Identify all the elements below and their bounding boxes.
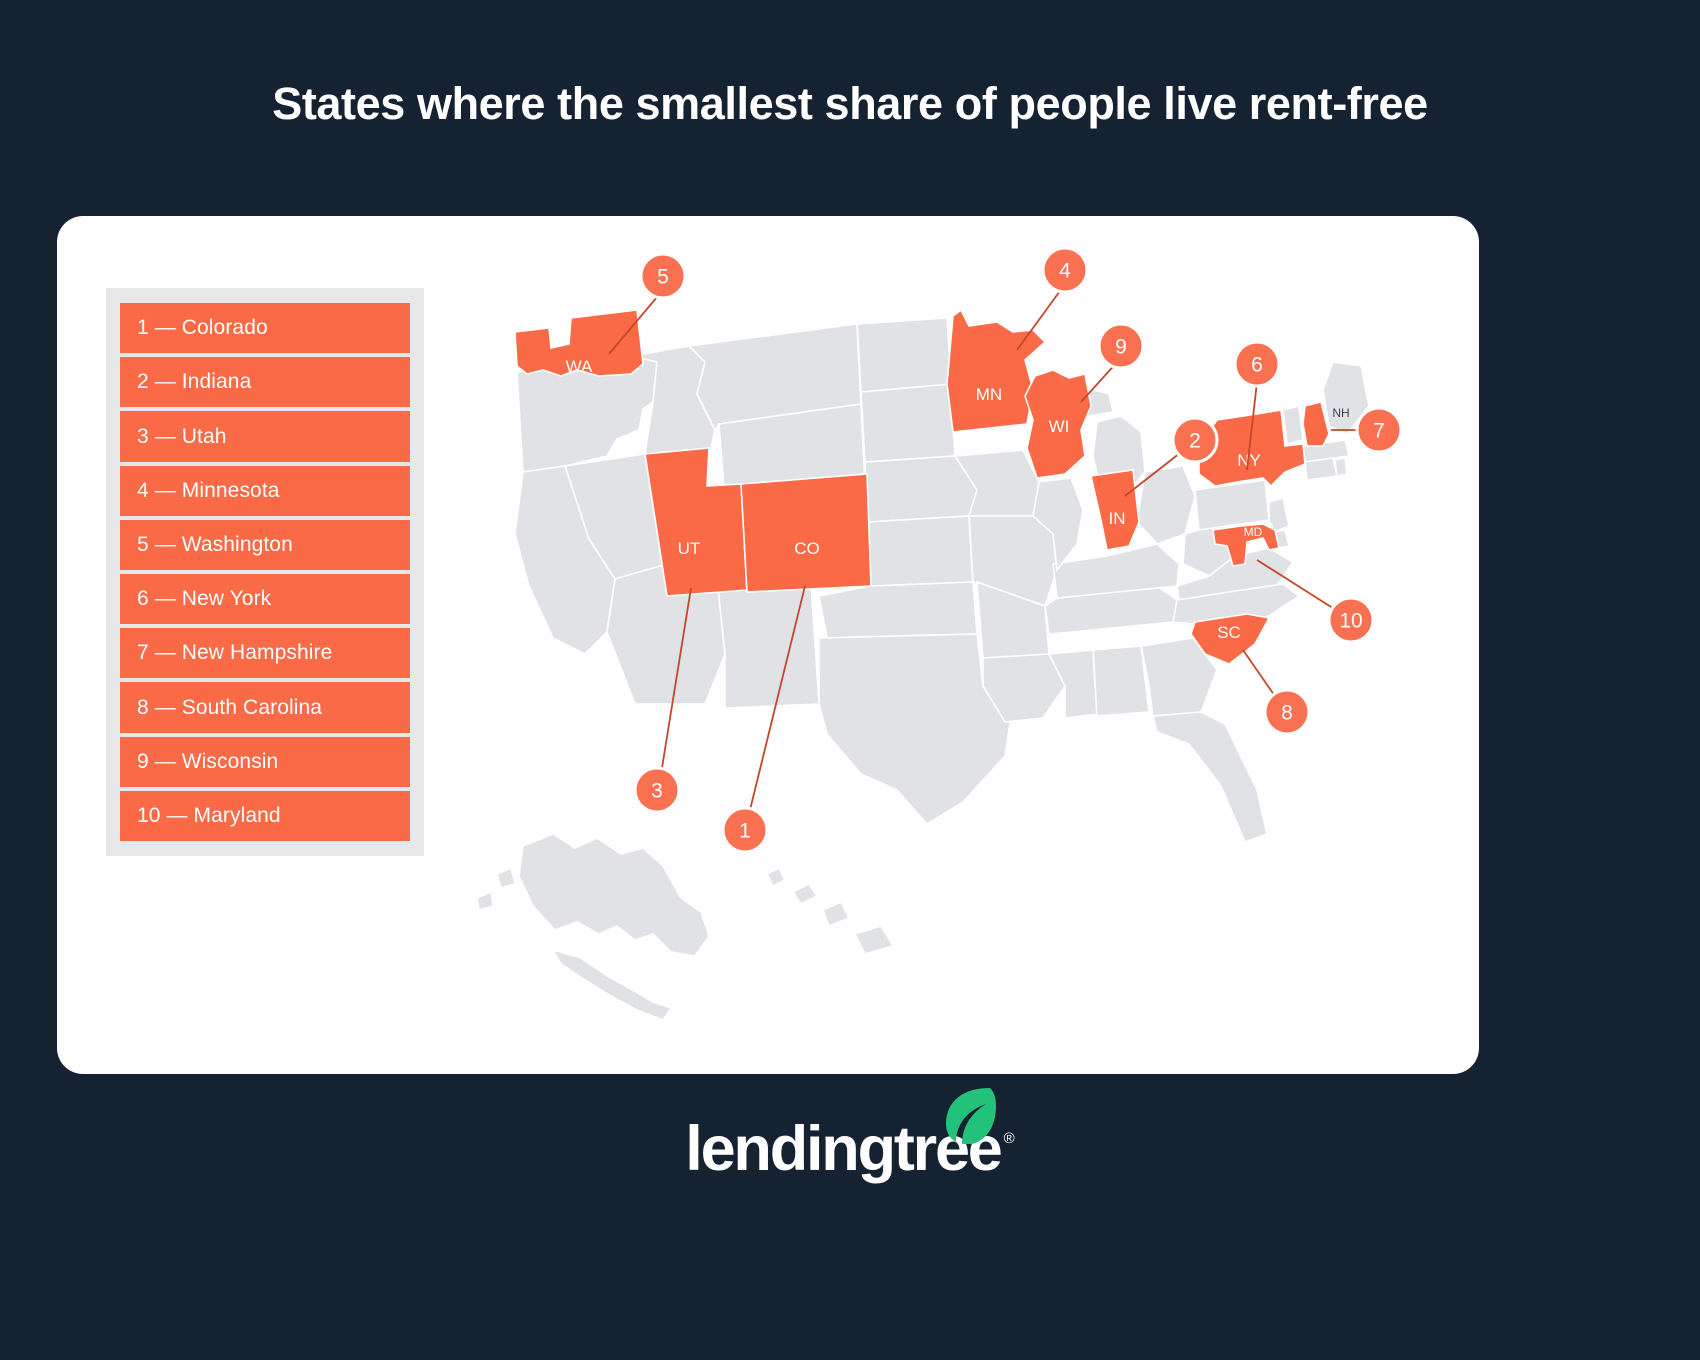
legend-item-label: 9 — Wisconsin xyxy=(137,750,278,774)
state-ok xyxy=(819,582,977,638)
state-ak xyxy=(477,834,709,1020)
state-label-wi: WI xyxy=(1049,417,1070,436)
state-label-ut: UT xyxy=(678,539,701,558)
pin-10[interactable]: 10 xyxy=(1329,598,1373,642)
legend-item-label: 2 — Indiana xyxy=(137,370,251,394)
pin-label-5: 5 xyxy=(657,266,669,289)
legend-item-10[interactable]: 10 — Maryland xyxy=(120,791,410,841)
pin-label-7: 7 xyxy=(1373,420,1385,443)
state-ks xyxy=(867,516,973,586)
legend-panel: 1 — Colorado 2 — Indiana 3 — Utah 4 — Mi… xyxy=(106,288,424,856)
state-nj xyxy=(1269,498,1289,532)
state-label-nh: NH xyxy=(1332,406,1349,420)
legend-item-9[interactable]: 9 — Wisconsin xyxy=(120,737,410,787)
legend-item-label: 4 — Minnesota xyxy=(137,479,280,503)
legend-item-1[interactable]: 1 — Colorado xyxy=(120,303,410,353)
legend-item-3[interactable]: 3 — Utah xyxy=(120,411,410,461)
legend-item-7[interactable]: 7 — New Hampshire xyxy=(120,628,410,678)
legend-item-8[interactable]: 8 — South Carolina xyxy=(120,682,410,732)
pin-6[interactable]: 6 xyxy=(1235,342,1279,386)
pin-8[interactable]: 8 xyxy=(1265,690,1309,734)
map-alaska-hawaii xyxy=(477,834,893,1020)
pin-9[interactable]: 9 xyxy=(1099,324,1143,368)
state-pa xyxy=(1195,480,1269,530)
pin-4[interactable]: 4 xyxy=(1043,248,1087,292)
legend-item-label: 1 — Colorado xyxy=(137,316,268,340)
pin-3[interactable]: 3 xyxy=(635,768,679,812)
pin-7[interactable]: 7 xyxy=(1357,408,1401,452)
state-sd xyxy=(861,384,955,462)
legend-item-2[interactable]: 2 — Indiana xyxy=(120,357,410,407)
legend-item-4[interactable]: 4 — Minnesota xyxy=(120,466,410,516)
pin-label-2: 2 xyxy=(1189,430,1201,453)
state-label-wa: WA xyxy=(566,357,593,376)
pin-label-4: 4 xyxy=(1059,260,1071,283)
pin-label-9: 9 xyxy=(1115,336,1127,359)
state-al xyxy=(1093,646,1149,716)
legend-item-label: 7 — New Hampshire xyxy=(137,641,332,665)
page-title: States where the smallest share of peopl… xyxy=(0,78,1700,130)
pin-label-3: 3 xyxy=(651,780,663,803)
content-card: 1 — Colorado 2 — Indiana 3 — Utah 4 — Mi… xyxy=(57,216,1479,1074)
pin-1[interactable]: 1 xyxy=(723,808,767,852)
us-map: WA UT CO MN WI IN xyxy=(457,234,1467,1044)
state-oh xyxy=(1137,466,1195,544)
state-nd xyxy=(857,318,951,392)
legend-item-label: 6 — New York xyxy=(137,587,271,611)
state-vt xyxy=(1283,406,1303,444)
logo-lockup: lendingtree ® xyxy=(685,1118,1014,1181)
legend-item-5[interactable]: 5 — Washington xyxy=(120,520,410,570)
state-label-in: IN xyxy=(1109,509,1126,528)
state-ct xyxy=(1305,458,1337,480)
us-map-svg: WA UT CO MN WI IN xyxy=(457,234,1467,1044)
pin-label-1: 1 xyxy=(739,820,751,843)
state-label-mn: MN xyxy=(976,385,1002,404)
infographic-page: States where the smallest share of peopl… xyxy=(0,0,1700,1360)
legend-list: 1 — Colorado 2 — Indiana 3 — Utah 4 — Mi… xyxy=(120,303,410,841)
registered-trademark-icon: ® xyxy=(1004,1130,1015,1147)
state-ri xyxy=(1335,458,1347,476)
pin-label-6: 6 xyxy=(1251,354,1263,377)
legend-item-6[interactable]: 6 — New York xyxy=(120,574,410,624)
state-nh-highlight[interactable] xyxy=(1303,402,1329,446)
leaf-icon xyxy=(938,1084,1000,1146)
legend-item-label: 10 — Maryland xyxy=(137,804,281,828)
footer-logo: lendingtree ® xyxy=(0,1118,1700,1181)
legend-item-label: 3 — Utah xyxy=(137,425,227,449)
state-label-co: CO xyxy=(794,539,820,558)
legend-item-label: 5 — Washington xyxy=(137,533,293,557)
pin-5[interactable]: 5 xyxy=(641,254,685,298)
map-states-default xyxy=(515,318,1369,842)
pin-2[interactable]: 2 xyxy=(1173,418,1217,462)
pin-label-10: 10 xyxy=(1339,610,1362,633)
state-fl xyxy=(1153,712,1267,842)
state-label-md: MD xyxy=(1244,525,1263,539)
pin-label-8: 8 xyxy=(1281,702,1293,725)
state-label-sc: SC xyxy=(1217,623,1241,642)
legend-item-label: 8 — South Carolina xyxy=(137,696,322,720)
state-hi xyxy=(767,868,893,954)
state-ne xyxy=(865,456,977,522)
state-co-highlight[interactable] xyxy=(741,474,871,592)
